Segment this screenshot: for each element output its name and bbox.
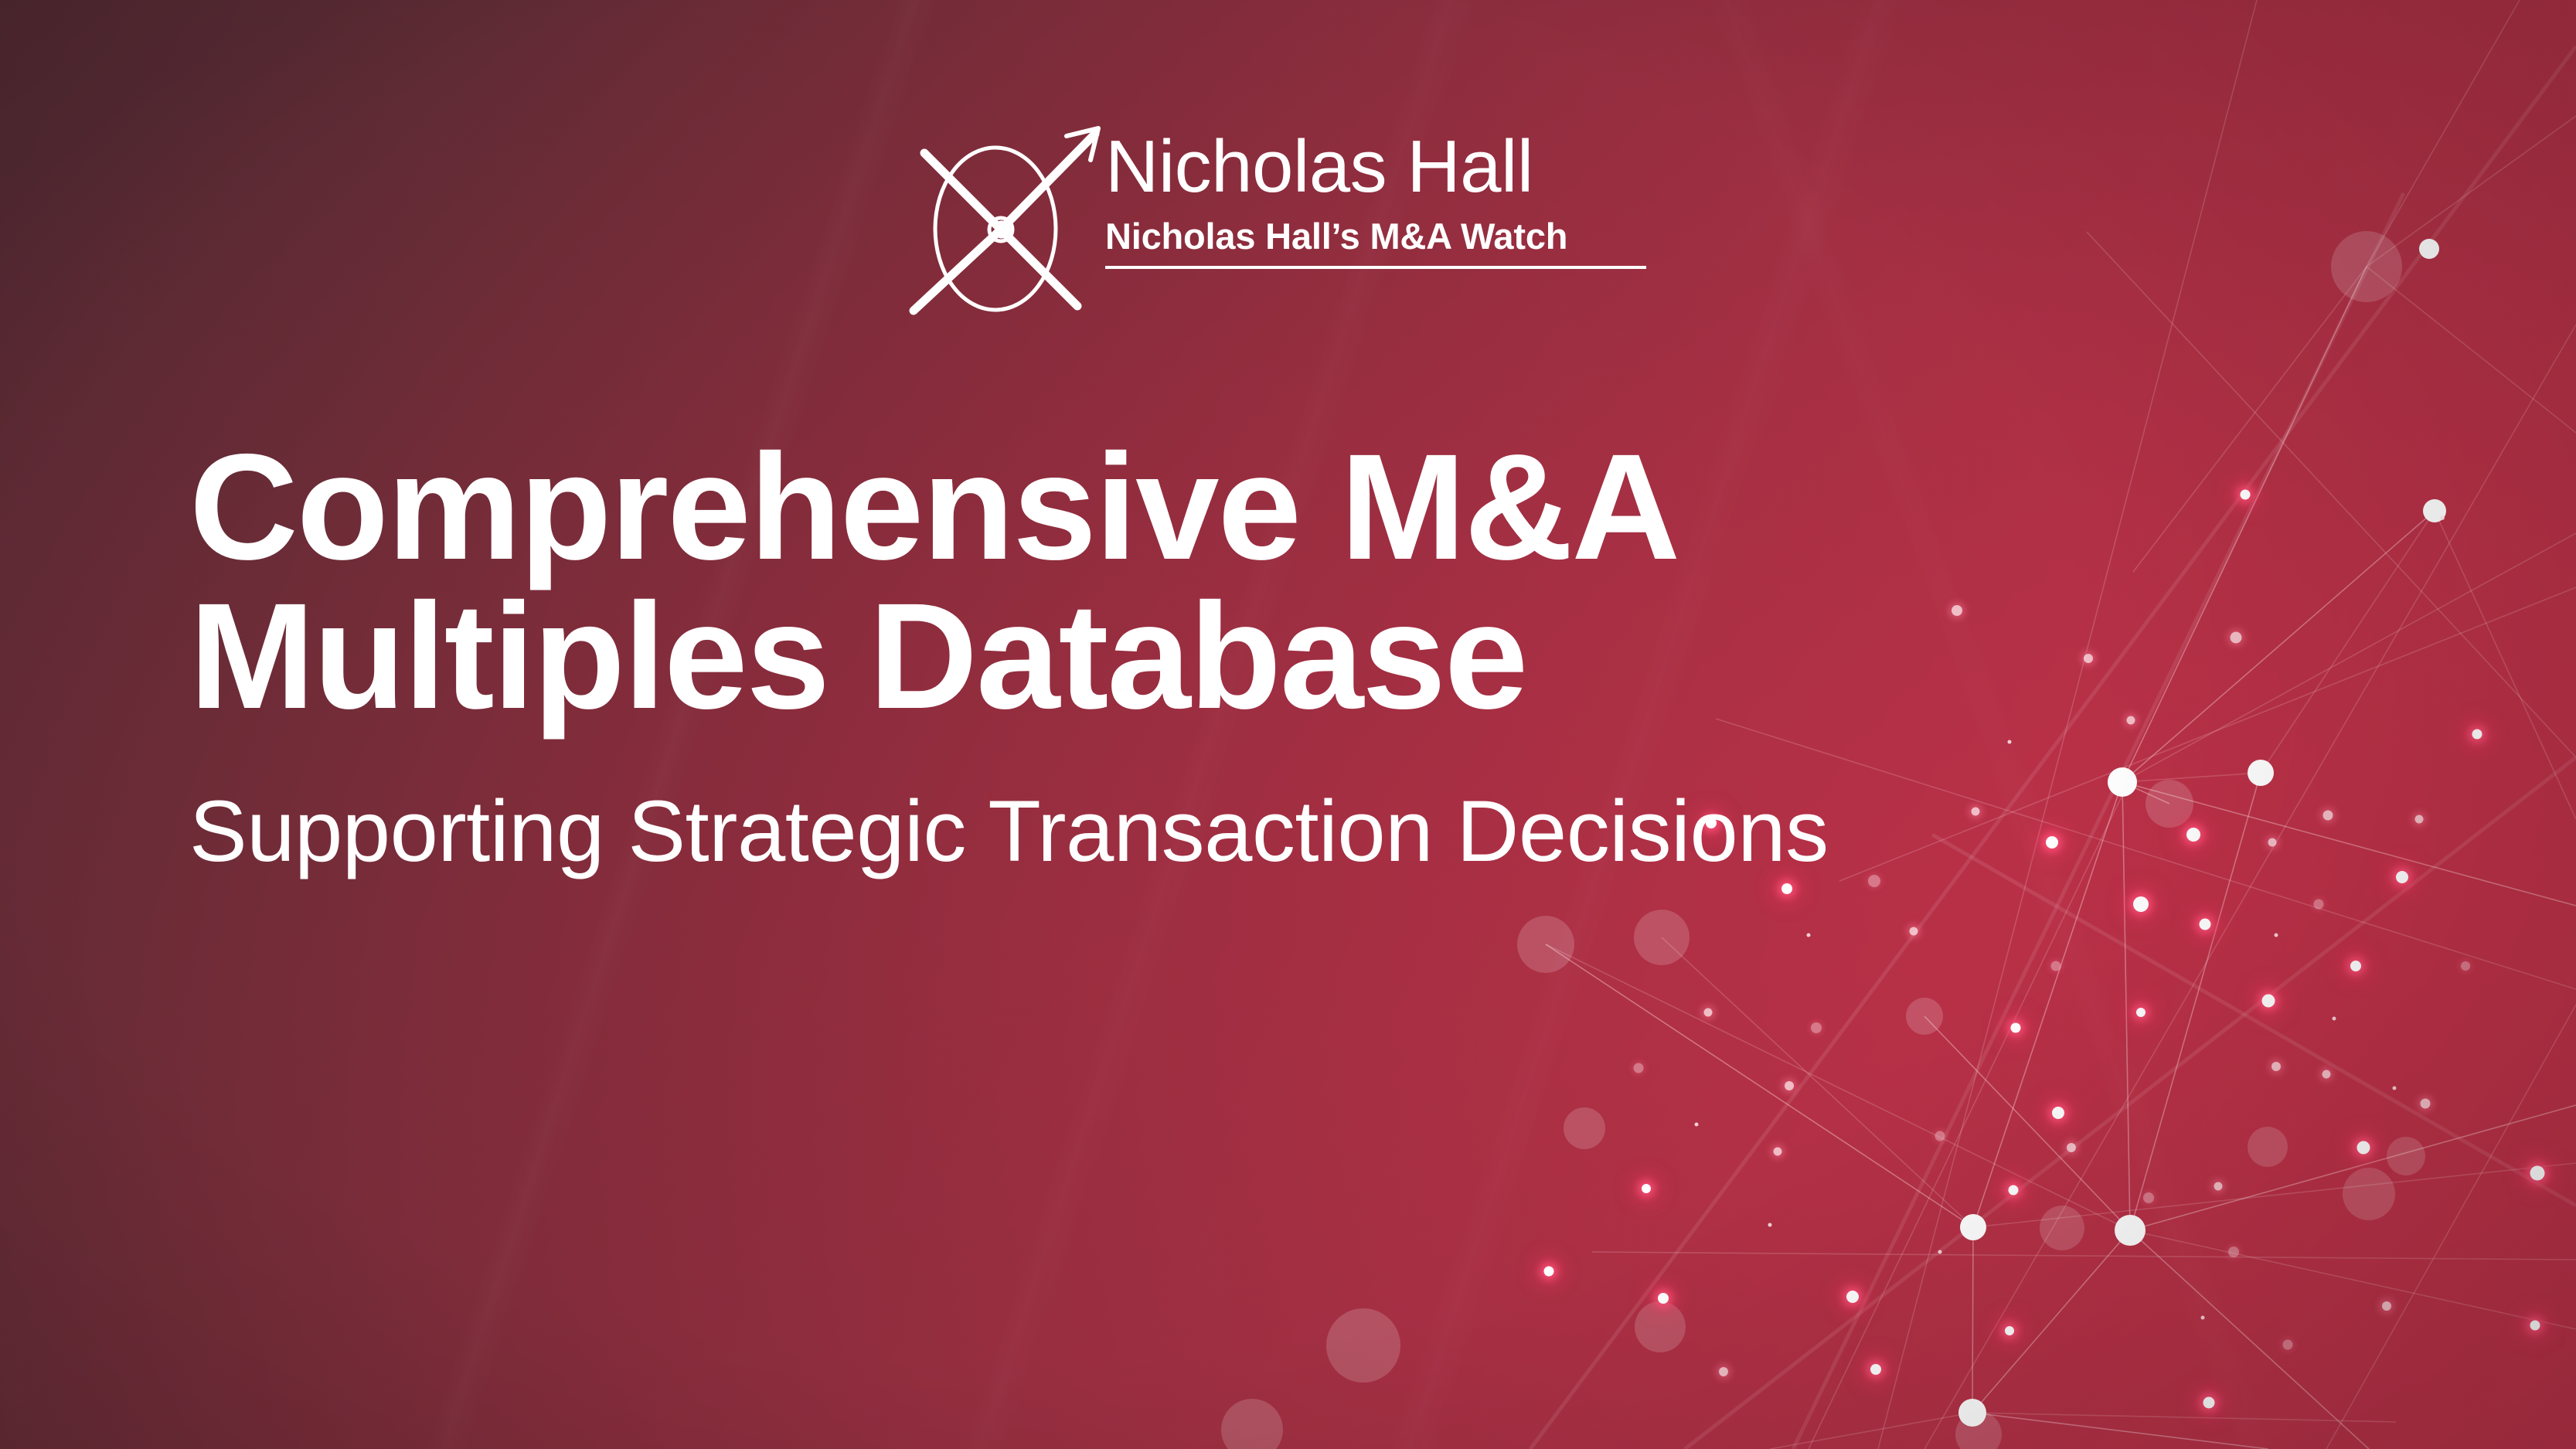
logo-divider-rule	[1105, 266, 1646, 269]
brand-logo-text: Nicholas Hall Nicholas Hall’s M&A Watch	[1105, 130, 1677, 269]
page-title-line-1: Comprehensive M&A	[189, 423, 1679, 591]
title-slide: Nicholas Hall Nicholas Hall’s M&A Watch …	[0, 0, 2576, 1449]
page-title-line-2: Multiples Database	[189, 582, 2276, 731]
title-copy-block: Comprehensive M&A Multiples Database Sup…	[189, 433, 2276, 875]
compass-arrow-mark-icon	[903, 122, 1110, 326]
page-subtitle: Supporting Strategic Transaction Decisio…	[189, 788, 2276, 875]
page-title: Comprehensive M&A Multiples Database	[189, 433, 2276, 731]
brand-name: Nicholas Hall	[1105, 130, 1677, 204]
brand-logo: Nicholas Hall Nicholas Hall’s M&A Watch	[903, 122, 1676, 331]
compass-mark-svg	[903, 122, 1110, 326]
brand-tagline: Nicholas Hall’s M&A Watch	[1105, 218, 1677, 254]
